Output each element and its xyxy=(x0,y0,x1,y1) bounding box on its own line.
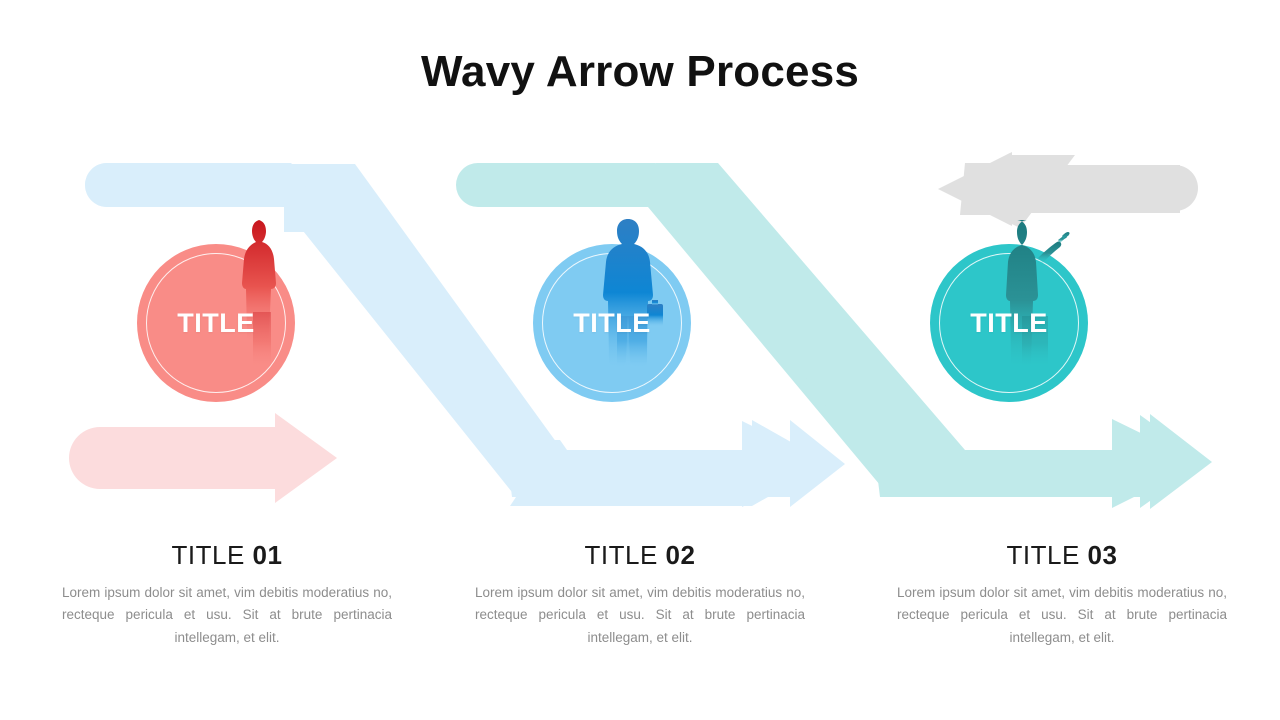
caption-1-title-number: 01 xyxy=(253,540,283,570)
caption-1-body: Lorem ipsum dolor sit amet, vim debitis … xyxy=(62,582,392,649)
caption-2: TITLE 02 Lorem ipsum dolor sit amet, vim… xyxy=(475,540,805,649)
process-node-1[interactable]: TITLE xyxy=(137,244,295,402)
process-node-2[interactable]: TITLE xyxy=(533,244,691,402)
caption-1-title-word: TITLE xyxy=(172,540,245,570)
node-2-label: TITLE xyxy=(533,244,691,402)
caption-1: TITLE 01 Lorem ipsum dolor sit amet, vim… xyxy=(62,540,392,649)
caption-2-body: Lorem ipsum dolor sit amet, vim debitis … xyxy=(475,582,805,649)
caption-3-body: Lorem ipsum dolor sit amet, vim debitis … xyxy=(897,582,1227,649)
caption-2-title: TITLE 02 xyxy=(475,540,805,571)
caption-2-title-word: TITLE xyxy=(585,540,658,570)
caption-2-title-number: 02 xyxy=(666,540,696,570)
caption-1-title: TITLE 01 xyxy=(62,540,392,571)
arrow-left-decoration xyxy=(938,152,1198,228)
caption-3-title-word: TITLE xyxy=(1007,540,1080,570)
node-1-label: TITLE xyxy=(137,244,295,402)
process-node-3[interactable]: TITLE xyxy=(930,244,1088,402)
node-3-label: TITLE xyxy=(930,244,1088,402)
caption-3-title: TITLE 03 xyxy=(897,540,1227,571)
caption-3: TITLE 03 Lorem ipsum dolor sit amet, vim… xyxy=(897,540,1227,649)
slide-canvas: Wavy Arrow Process xyxy=(0,0,1280,720)
caption-3-title-number: 03 xyxy=(1088,540,1118,570)
